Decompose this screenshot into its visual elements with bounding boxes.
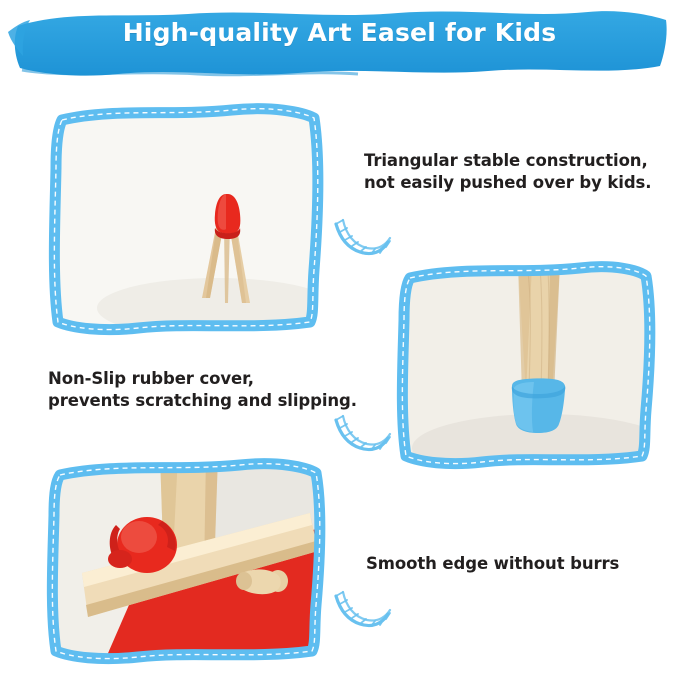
caption-triangular-line-2: not easily pushed over by kids. bbox=[364, 172, 664, 194]
arrow-3-icon bbox=[330, 588, 394, 640]
product-infographic: High-quality Art Easel for Kids bbox=[0, 0, 679, 687]
photo-frame-border bbox=[42, 455, 332, 667]
header-banner: High-quality Art Easel for Kids bbox=[0, 0, 679, 92]
arrow-1-icon bbox=[330, 216, 394, 268]
caption-smooth-edge-line-1: Smooth edge without burrs bbox=[366, 553, 656, 575]
page-title: High-quality Art Easel for Kids bbox=[0, 18, 679, 47]
photo-rubber-foot bbox=[392, 258, 658, 472]
caption-triangular-line-1: Triangular stable construction, bbox=[364, 150, 664, 172]
photo-easel-top bbox=[42, 98, 327, 338]
caption-non-slip-line-1: Non-Slip rubber cover, bbox=[48, 368, 388, 390]
caption-triangular: Triangular stable construction, not easi… bbox=[364, 150, 664, 194]
photo-frame-border bbox=[392, 258, 658, 472]
photo-smooth-edge bbox=[42, 455, 332, 667]
caption-non-slip: Non-Slip rubber cover, prevents scratchi… bbox=[48, 368, 388, 412]
caption-non-slip-line-2: prevents scratching and slipping. bbox=[48, 390, 388, 412]
arrow-2-icon bbox=[330, 412, 394, 464]
photo-frame-border bbox=[42, 98, 327, 338]
caption-smooth-edge: Smooth edge without burrs bbox=[366, 553, 656, 575]
